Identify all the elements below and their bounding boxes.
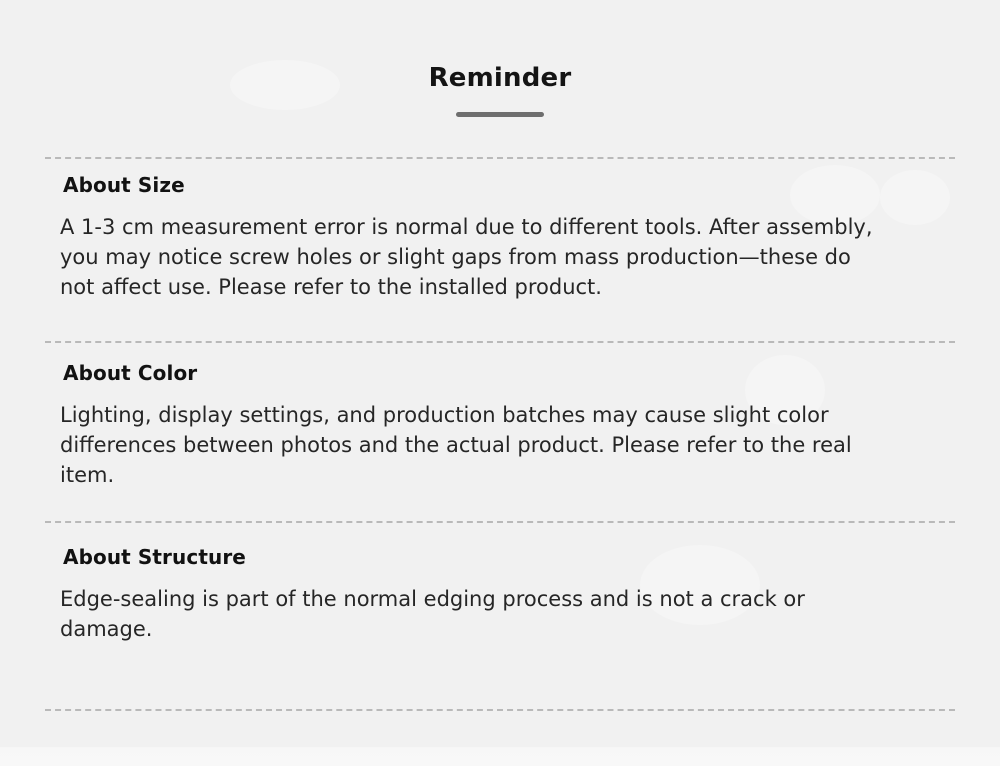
- section-body-about-size: A 1-3 cm measurement error is normal due…: [60, 212, 960, 302]
- page-title: Reminder: [0, 62, 1000, 94]
- section-divider-after-color: [45, 521, 955, 523]
- reminder-panel: Reminder About Size A 1-3 cm measurement…: [0, 0, 1000, 766]
- section-about-size: About Size A 1-3 cm measurement error is…: [0, 172, 1000, 302]
- section-body-about-structure: Edge-sealing is part of the normal edgin…: [60, 584, 960, 644]
- section-body-about-color: Lighting, display settings, and producti…: [60, 400, 960, 490]
- section-divider-bottom: [45, 709, 955, 711]
- section-heading-about-size: About Size: [63, 172, 1000, 198]
- section-divider-top: [45, 157, 955, 159]
- section-about-color: About Color Lighting, display settings, …: [0, 360, 1000, 490]
- title-underline-rule: [456, 112, 544, 117]
- section-divider-after-size: [45, 341, 955, 343]
- section-about-structure: About Structure Edge-sealing is part of …: [0, 544, 1000, 644]
- panel-header: Reminder: [0, 62, 1000, 117]
- section-heading-about-structure: About Structure: [63, 544, 1000, 570]
- section-heading-about-color: About Color: [63, 360, 1000, 386]
